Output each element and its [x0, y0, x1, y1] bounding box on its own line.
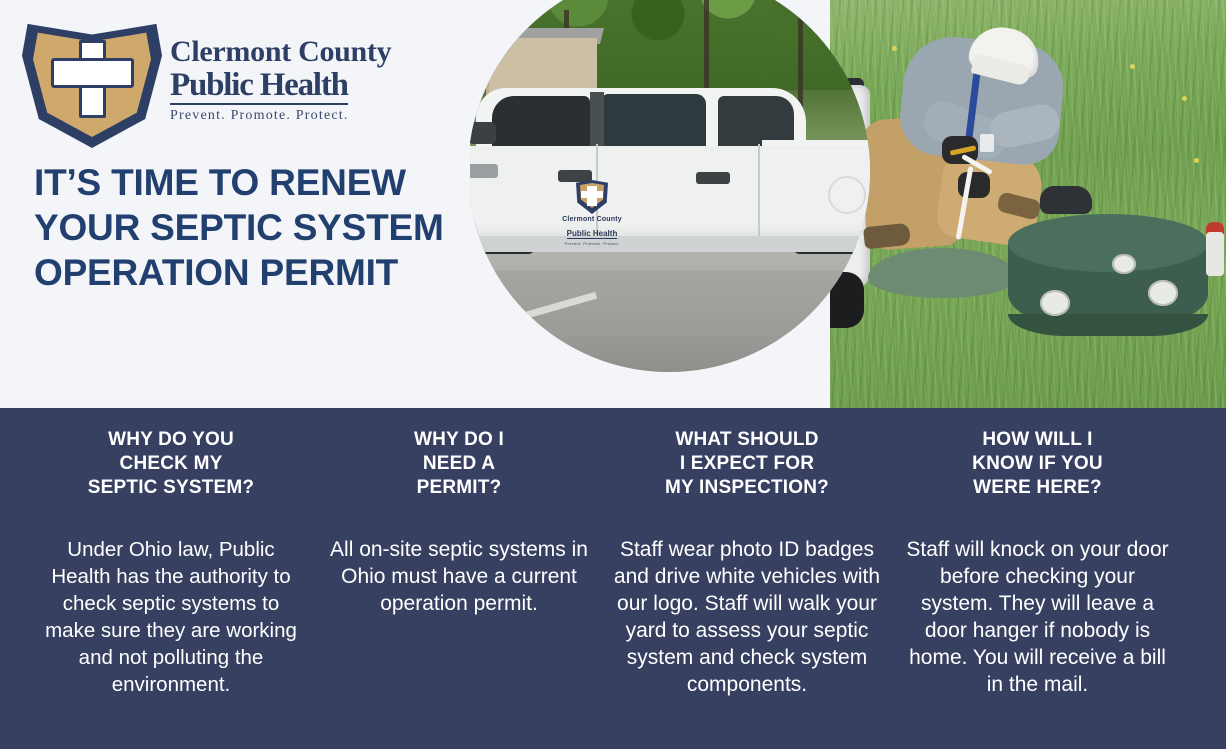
- riser-vent-icon: [1040, 290, 1070, 316]
- logo-tagline: Prevent. Promote. Protect.: [170, 108, 470, 124]
- faq-heading-4-line-2: KNOW IF YOU: [972, 453, 1103, 474]
- faq-columns: WHY DO YOU CHECK MY SEPTIC SYSTEM? Under…: [0, 408, 1226, 749]
- faq-heading-3-line-2: I EXPECT FOR: [680, 453, 814, 474]
- dandelion-icon: [1130, 64, 1135, 69]
- faq-column-3: WHAT SHOULD I EXPECT FOR MY INSPECTION? …: [608, 428, 886, 698]
- faq-heading-2-line-1: WHY DO I: [414, 429, 504, 450]
- faq-heading-4-line-1: HOW WILL I: [982, 429, 1092, 450]
- pickup-truck: Clermont County Public Health Prevent. P…: [468, 88, 870, 278]
- truck-model-badge: [468, 164, 498, 178]
- faq-body-2: All on-site septic systems in Ohio must …: [330, 536, 588, 617]
- logo-wordmark: Clermont County Public Health Prevent. P…: [170, 36, 470, 124]
- spacer: [330, 500, 588, 536]
- faq-column-4: HOW WILL I KNOW IF YOU WERE HERE? Staff …: [905, 428, 1170, 698]
- faq-heading-1-line-2: CHECK MY: [120, 453, 223, 474]
- faq-column-1: WHY DO YOU CHECK MY SEPTIC SYSTEM? Under…: [35, 428, 307, 698]
- riser-vent-icon: [1148, 280, 1178, 306]
- faq-band: WHY DO YOU CHECK MY SEPTIC SYSTEM? Under…: [0, 408, 1226, 749]
- logo-line-1: Clermont County: [170, 36, 470, 68]
- shield-cross-icon: [576, 180, 608, 214]
- door-seam: [758, 144, 760, 244]
- door-handle: [696, 172, 730, 184]
- logo-line-2: Public Health: [170, 68, 348, 105]
- spacer: [608, 500, 886, 536]
- dandelion-icon: [1194, 158, 1199, 163]
- page-title: IT’S TIME TO RENEW YOUR SEPTIC SYSTEM OP…: [34, 160, 464, 295]
- headline-line-3: OPERATION PERMIT: [34, 250, 464, 295]
- equipment-bag: [1040, 186, 1092, 214]
- septic-alarm-box: [1206, 232, 1224, 276]
- truck-body: [468, 146, 870, 246]
- faq-heading-2: WHY DO I NEED A PERMIT?: [330, 428, 588, 500]
- truck-door-logo: Clermont County Public Health Prevent. P…: [556, 180, 628, 242]
- riser-vent-icon: [1112, 254, 1136, 274]
- truck-logo-line1: Clermont County: [556, 216, 628, 223]
- poster-top-section: Clermont County Public Health Prevent. P…: [0, 0, 1226, 408]
- fuel-cap: [828, 176, 866, 214]
- septic-inspection-photo: [830, 0, 1226, 408]
- septic-permit-poster: Clermont County Public Health Prevent. P…: [0, 0, 1226, 749]
- cross-horizontal: [581, 191, 603, 198]
- shield-cross-icon: [22, 16, 162, 148]
- spacer: [35, 500, 307, 536]
- faq-heading-1: WHY DO YOU CHECK MY SEPTIC SYSTEM?: [35, 428, 307, 500]
- inspector-id-badge: [980, 134, 994, 152]
- faq-heading-4: HOW WILL I KNOW IF YOU WERE HERE?: [905, 428, 1170, 500]
- riser-lid: [1008, 214, 1208, 272]
- dandelion-icon: [1182, 96, 1187, 101]
- faq-heading-3: WHAT SHOULD I EXPECT FOR MY INSPECTION?: [608, 428, 886, 500]
- clermont-county-public-health-logo: Clermont County Public Health Prevent. P…: [22, 14, 442, 142]
- truck-rocker-panel: [468, 236, 870, 252]
- cross-joint: [82, 61, 103, 85]
- faq-heading-1-line-3: SEPTIC SYSTEM?: [88, 477, 254, 498]
- faq-heading-3-line-1: WHAT SHOULD: [675, 429, 818, 450]
- faq-heading-2-line-2: NEED A: [423, 453, 495, 474]
- faq-heading-4-line-3: WERE HERE?: [973, 477, 1102, 498]
- faq-body-1: Under Ohio law, Public Health has the au…: [35, 536, 307, 698]
- septic-riser-main: [1008, 214, 1208, 344]
- headline-line-1: IT’S TIME TO RENEW: [34, 160, 464, 205]
- faq-column-2: WHY DO I NEED A PERMIT? All on-site sept…: [330, 428, 588, 617]
- headline-line-2: YOUR SEPTIC SYSTEM: [34, 205, 464, 250]
- county-truck-photo: Clermont County Public Health Prevent. P…: [468, 0, 870, 372]
- truck-logo-line2: Public Health: [567, 229, 618, 239]
- dandelion-icon: [892, 46, 897, 51]
- riser-rim: [1008, 314, 1208, 336]
- asphalt-driveway: [468, 270, 870, 372]
- truck-logo-tagline: Prevent. Promote. Protect.: [556, 241, 628, 246]
- faq-body-4: Staff will knock on your door before che…: [905, 536, 1170, 698]
- spacer: [905, 500, 1170, 536]
- faq-heading-3-line-3: MY INSPECTION?: [665, 477, 829, 498]
- faq-heading-2-line-3: PERMIT?: [417, 477, 502, 498]
- faq-body-3: Staff wear photo ID badges and drive whi…: [608, 536, 886, 698]
- faq-heading-1-line-1: WHY DO YOU: [108, 429, 234, 450]
- truck-mirror: [468, 122, 496, 144]
